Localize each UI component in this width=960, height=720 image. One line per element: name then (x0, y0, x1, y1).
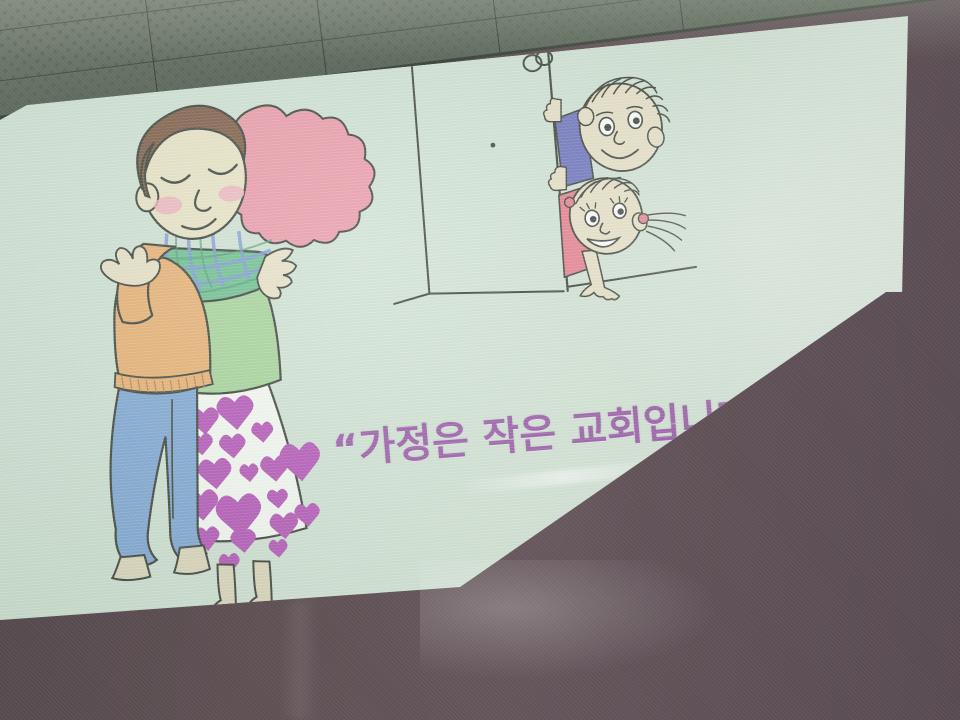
figure-boy (539, 73, 674, 191)
figure-girl (555, 164, 692, 304)
girl-pigtail-tie-left (564, 197, 575, 208)
door-bottom-edge (394, 281, 564, 307)
wall-spot (490, 143, 495, 148)
man-foot-left (110, 555, 150, 582)
boy-ear-2 (577, 107, 595, 126)
photo-scene: “가정은 작은 교회입니다.” (0, 0, 960, 720)
girl-pigtail-right (645, 211, 688, 253)
boy-lower-hand (547, 166, 568, 191)
man-jeans (102, 382, 213, 569)
boy-upper-hand (542, 98, 563, 124)
door-left-edge (406, 40, 433, 293)
